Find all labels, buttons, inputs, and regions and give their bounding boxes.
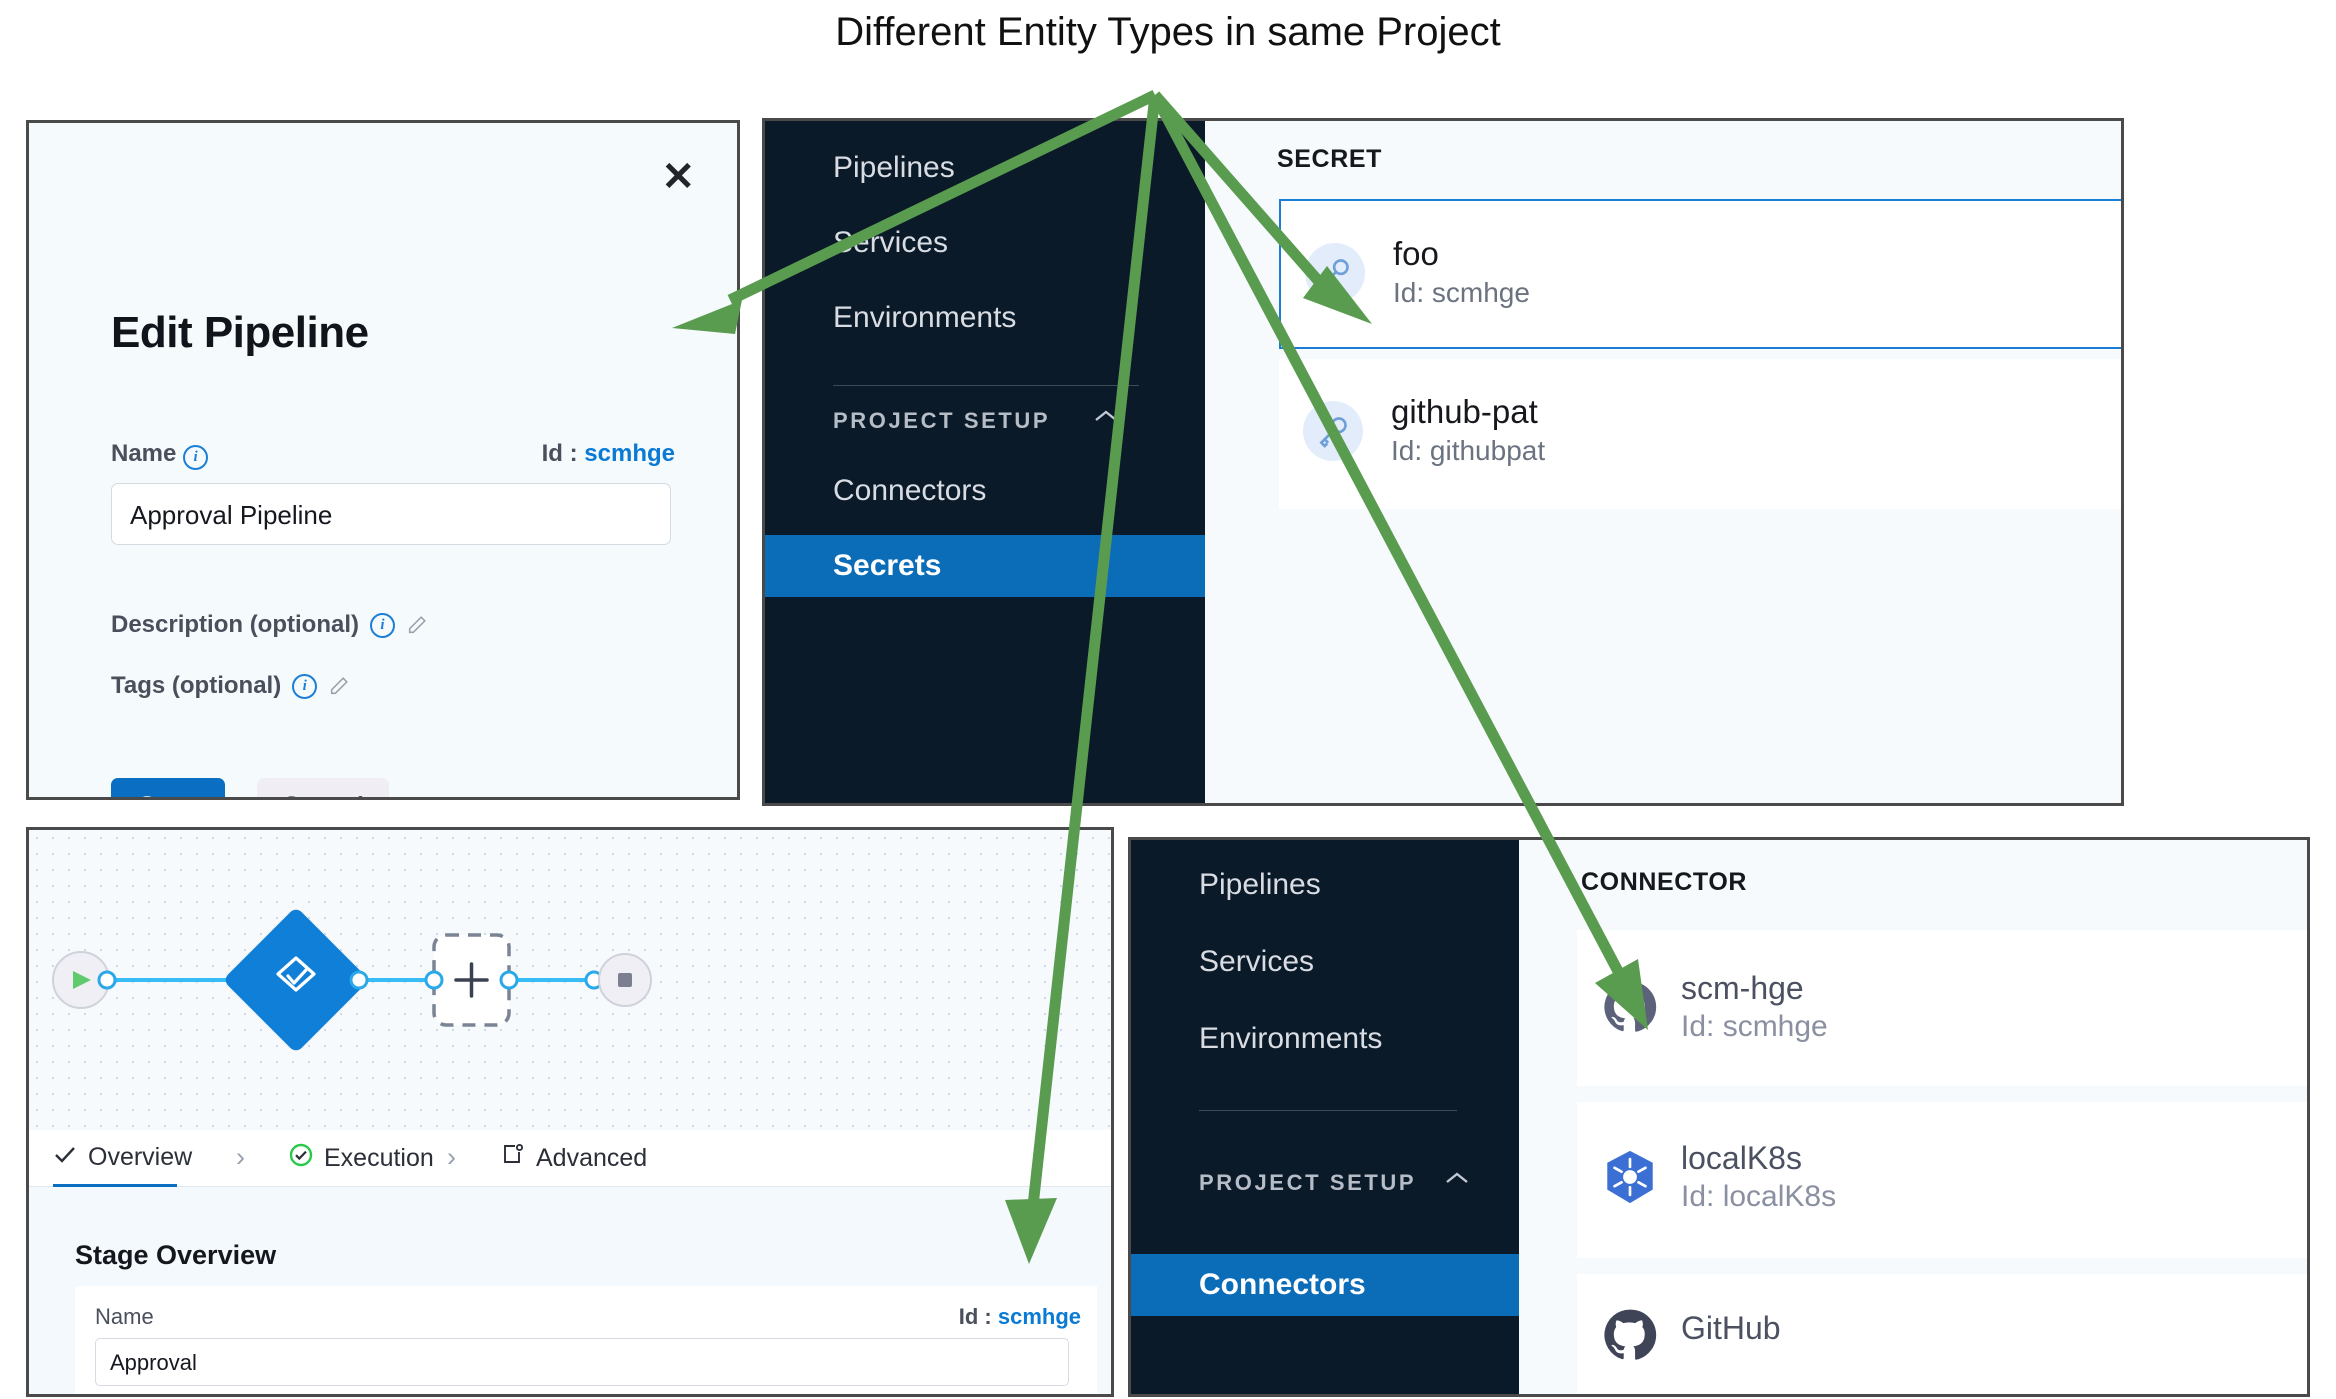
chevron-up-icon[interactable]	[1093, 408, 1115, 430]
entity-name: foo	[1393, 235, 1439, 273]
nav-divider	[833, 385, 1139, 386]
pipeline-studio: Approval Add Stage Overview › Execution …	[26, 827, 1114, 1397]
name-label-text: Name	[111, 440, 176, 467]
tab-overview[interactable]: Overview	[53, 1143, 192, 1172]
stage-overview-title: Stage Overview	[75, 1240, 276, 1271]
save-button[interactable]: Save	[111, 778, 225, 800]
sidebar-item-connectors[interactable]: Connectors	[833, 474, 986, 508]
kubernetes-icon	[1601, 1148, 1659, 1211]
entity-id: Id: scmhge	[1393, 277, 1530, 309]
sidebar-item-connectors[interactable]: Connectors	[1131, 1254, 1519, 1316]
sidebar-item-secrets-label: Secrets	[833, 549, 941, 583]
list-item[interactable]: GitHub	[1577, 1274, 2307, 1394]
edit-pipeline-dialog: ✕ Edit Pipeline Name i Id : scmhge Appro…	[26, 120, 740, 800]
tab-execution[interactable]: Execution	[289, 1143, 434, 1174]
sidebar-item-secrets[interactable]: Secrets	[765, 535, 1205, 597]
check-icon	[53, 1143, 77, 1172]
pipeline-id: Id : scmhge	[542, 440, 675, 468]
info-icon[interactable]: i	[183, 445, 208, 470]
tags-label: Tags (optional)	[111, 672, 281, 700]
sidebar-item-environments[interactable]: Environments	[1199, 1022, 1382, 1056]
secret-list: SECRET foo Id: scmhge github-pat Id: git…	[1205, 121, 2121, 803]
info-icon[interactable]: i	[370, 613, 395, 638]
info-icon[interactable]: i	[292, 674, 317, 699]
pencil-icon[interactable]	[328, 675, 350, 697]
list-item[interactable]: github-pat Id: githubpat	[1279, 359, 2121, 509]
description-label: Description (optional)	[111, 611, 359, 639]
entity-id: Id: scmhge	[1681, 1010, 1828, 1044]
pipeline-name-input[interactable]: Approval Pipeline	[111, 483, 671, 545]
entity-name: github-pat	[1391, 393, 1538, 431]
sidebar-nav: Pipelines Services Environments PROJECT …	[765, 121, 1205, 803]
stage-tabbar: Overview › Execution › Advanced	[29, 1130, 1111, 1187]
tab-advanced-label: Advanced	[536, 1144, 647, 1173]
github-icon	[1601, 1306, 1659, 1369]
connector-list: CONNECTOR scm-hge Id: scmhge lo	[1519, 840, 2307, 1394]
sidebar-item-pipelines[interactable]: Pipelines	[833, 151, 955, 185]
list-item[interactable]: foo Id: scmhge	[1279, 199, 2121, 349]
tab-separator: ›	[447, 1142, 456, 1173]
nav-section-project-setup[interactable]: PROJECT SETUP	[833, 408, 1050, 434]
stage-id-value[interactable]: scmhge	[998, 1304, 1081, 1329]
key-icon	[1315, 253, 1355, 298]
pencil-icon[interactable]	[406, 614, 428, 636]
pipeline-canvas[interactable]	[29, 830, 1111, 1130]
github-icon	[1601, 978, 1659, 1041]
sidebar-item-pipelines[interactable]: Pipelines	[1199, 868, 1321, 902]
sidebar-nav: Pipelines Services Environments PROJECT …	[1131, 840, 1519, 1394]
sidebar-item-services[interactable]: Services	[833, 226, 948, 260]
entity-id: Id: githubpat	[1391, 435, 1545, 467]
tags-row: Tags (optional) i	[111, 672, 350, 700]
list-header: CONNECTOR	[1581, 868, 1747, 897]
sidebar-item-services[interactable]: Services	[1199, 945, 1314, 979]
connectors-screen: Pipelines Services Environments PROJECT …	[1128, 837, 2310, 1397]
list-item[interactable]: localK8s Id: localK8s	[1577, 1102, 2307, 1258]
secrets-screen: Pipelines Services Environments PROJECT …	[762, 118, 2124, 806]
list-header: SECRET	[1277, 145, 1382, 174]
stage-id-prefix: Id :	[959, 1304, 998, 1329]
entity-name: GitHub	[1681, 1310, 1781, 1347]
cancel-button[interactable]: Cancel	[257, 778, 389, 800]
list-item[interactable]: scm-hge Id: scmhge	[1577, 930, 2307, 1086]
entity-id: Id: localK8s	[1681, 1180, 1836, 1214]
nav-section-project-setup[interactable]: PROJECT SETUP	[1199, 1170, 1416, 1196]
tab-separator: ›	[236, 1142, 245, 1173]
nav-divider	[1199, 1110, 1457, 1111]
sidebar-item-connectors-label: Connectors	[1199, 1268, 1366, 1302]
entity-name: localK8s	[1681, 1140, 1802, 1177]
key-icon	[1313, 411, 1353, 456]
advanced-icon	[501, 1143, 525, 1174]
description-row: Description (optional) i	[111, 611, 428, 639]
check-circle-icon	[289, 1143, 313, 1174]
name-label: Name i	[111, 440, 208, 470]
page-title: Different Entity Types in same Project	[0, 10, 2336, 55]
chevron-up-icon[interactable]	[1444, 1170, 1466, 1192]
stage-name-input[interactable]: Approval	[95, 1338, 1069, 1386]
stage-name-label: Name	[95, 1304, 154, 1330]
id-prefix: Id :	[542, 440, 585, 467]
entity-name: scm-hge	[1681, 970, 1804, 1007]
sidebar-item-environments[interactable]: Environments	[833, 301, 1016, 335]
tab-overview-label: Overview	[88, 1143, 192, 1172]
dialog-title: Edit Pipeline	[111, 308, 369, 358]
tab-execution-label: Execution	[324, 1144, 434, 1173]
close-icon[interactable]: ✕	[661, 157, 695, 197]
id-value[interactable]: scmhge	[584, 440, 675, 467]
stage-id: Id : scmhge	[959, 1304, 1081, 1330]
tab-advanced[interactable]: Advanced	[501, 1143, 647, 1174]
